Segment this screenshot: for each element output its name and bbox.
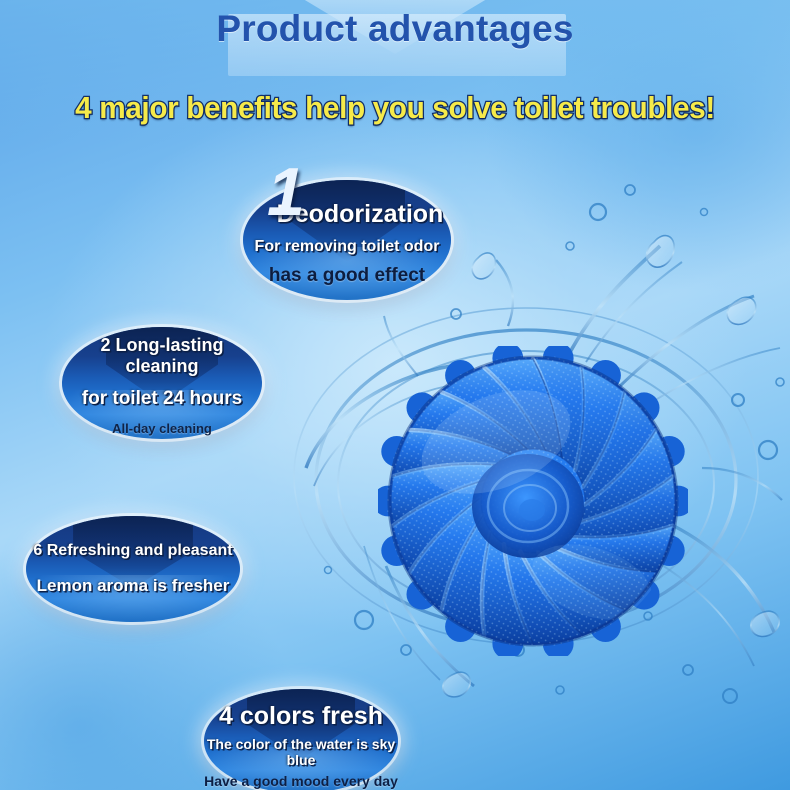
benefit-2-heading: 2 Long-lasting cleaning [62, 335, 262, 377]
benefit-3-heading: 6 Refreshing and pleasant [33, 542, 232, 560]
benefit-1-line3: has a good effect [269, 265, 425, 287]
benefit-4-text: 4 colors fresh The color of the water is… [204, 689, 398, 790]
benefit-3-text: 6 Refreshing and pleasant Lemon aroma is… [26, 516, 240, 622]
benefit-3-line2: Lemon aroma is fresher [37, 576, 230, 596]
benefit-callout-2[interactable]: 2 Long-lasting cleaning for toilet 24 ho… [62, 327, 262, 439]
benefit-4-line3: Have a good mood every day [204, 773, 398, 789]
benefit-2-line3: All-day cleaning [112, 421, 212, 436]
benefit-4-line2: The color of the water is sky blue [204, 736, 398, 768]
benefit-callout-1[interactable]: 1 Deodorization For removing toilet odor… [243, 180, 451, 300]
page-title: Product advantages [0, 8, 790, 50]
benefit-callout-3[interactable]: 6 Refreshing and pleasant Lemon aroma is… [26, 516, 240, 622]
benefit-1-number: 1 [267, 158, 305, 226]
benefit-1-line2: For removing toilet odor [255, 238, 440, 256]
product-advantages-poster: Product advantages 4 major benefits help… [0, 0, 790, 790]
benefit-2-line2: for toilet 24 hours [82, 388, 242, 410]
product-image-toilet-cleaning-ball [378, 346, 688, 656]
page-subtitle: 4 major benefits help you solve toilet t… [16, 90, 774, 126]
benefit-4-heading: 4 colors fresh [219, 702, 383, 731]
benefit-2-text: 2 Long-lasting cleaning for toilet 24 ho… [62, 327, 262, 439]
benefit-callout-4[interactable]: 4 colors fresh The color of the water is… [204, 689, 398, 790]
